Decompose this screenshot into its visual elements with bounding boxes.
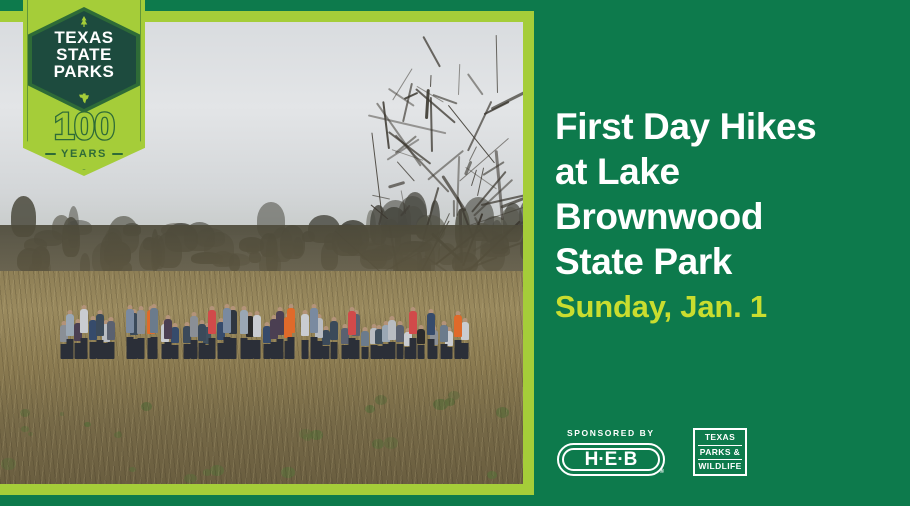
title-line-2: at Lake bbox=[555, 149, 895, 194]
tpwd-rule-1 bbox=[698, 445, 742, 446]
frame-bottom-lime-band bbox=[0, 484, 534, 495]
heb-sponsor-block: SPONSORED BY H·E·B ® bbox=[557, 428, 665, 476]
poster-canvas: TEXAS STATE PARKS 100 YEARS First Day Hi… bbox=[0, 0, 910, 506]
texas-state-shape-icon bbox=[79, 93, 90, 104]
tpwd-line-parks: PARKS & bbox=[700, 448, 740, 457]
heb-logo-text: H·E·B bbox=[585, 449, 638, 471]
centennial-years-label: YEARS bbox=[61, 148, 107, 160]
centennial-number: 100 bbox=[23, 108, 145, 146]
tpwd-line-texas: TEXAS bbox=[705, 433, 735, 442]
badge-line-state: STATE bbox=[32, 46, 136, 63]
badge-line-parks: PARKS bbox=[32, 63, 136, 80]
years-dash-right bbox=[112, 153, 123, 156]
heb-logo: H·E·B ® bbox=[557, 443, 665, 476]
sponsored-by-label: SPONSORED BY bbox=[567, 428, 665, 438]
sponsor-row: SPONSORED BY H·E·B ® TEXAS PARKS & WILDL… bbox=[557, 428, 747, 476]
title-line-1: First Day Hikes bbox=[555, 104, 895, 149]
frame-right-lime-band bbox=[523, 11, 534, 495]
title-line-4: State Park bbox=[555, 239, 895, 284]
texas-state-parks-hex-badge: TEXAS STATE PARKS bbox=[32, 11, 136, 109]
badge-line-texas: TEXAS bbox=[32, 29, 136, 46]
badge-wordmark: TEXAS STATE PARKS bbox=[32, 29, 136, 80]
event-title: First Day Hikes at Lake Brownwood State … bbox=[555, 104, 895, 284]
texas-state-parks-centennial-banner: TEXAS STATE PARKS 100 YEARS bbox=[23, 0, 145, 176]
tpwd-line-wildlife: WILDLIFE bbox=[698, 462, 741, 471]
tpwd-rule-2 bbox=[698, 459, 742, 460]
event-text-column: First Day Hikes at Lake Brownwood State … bbox=[555, 104, 895, 326]
pine-tree-icon bbox=[80, 16, 89, 27]
heb-registered-mark: ® bbox=[660, 469, 664, 475]
years-dash-left bbox=[45, 153, 56, 156]
event-date: Sunday, Jan. 1 bbox=[555, 288, 895, 326]
title-line-3: Brownwood bbox=[555, 194, 895, 239]
photo-dry-grass-foreground bbox=[0, 271, 523, 484]
texas-parks-and-wildlife-logo: TEXAS PARKS & WILDLIFE bbox=[693, 428, 747, 476]
